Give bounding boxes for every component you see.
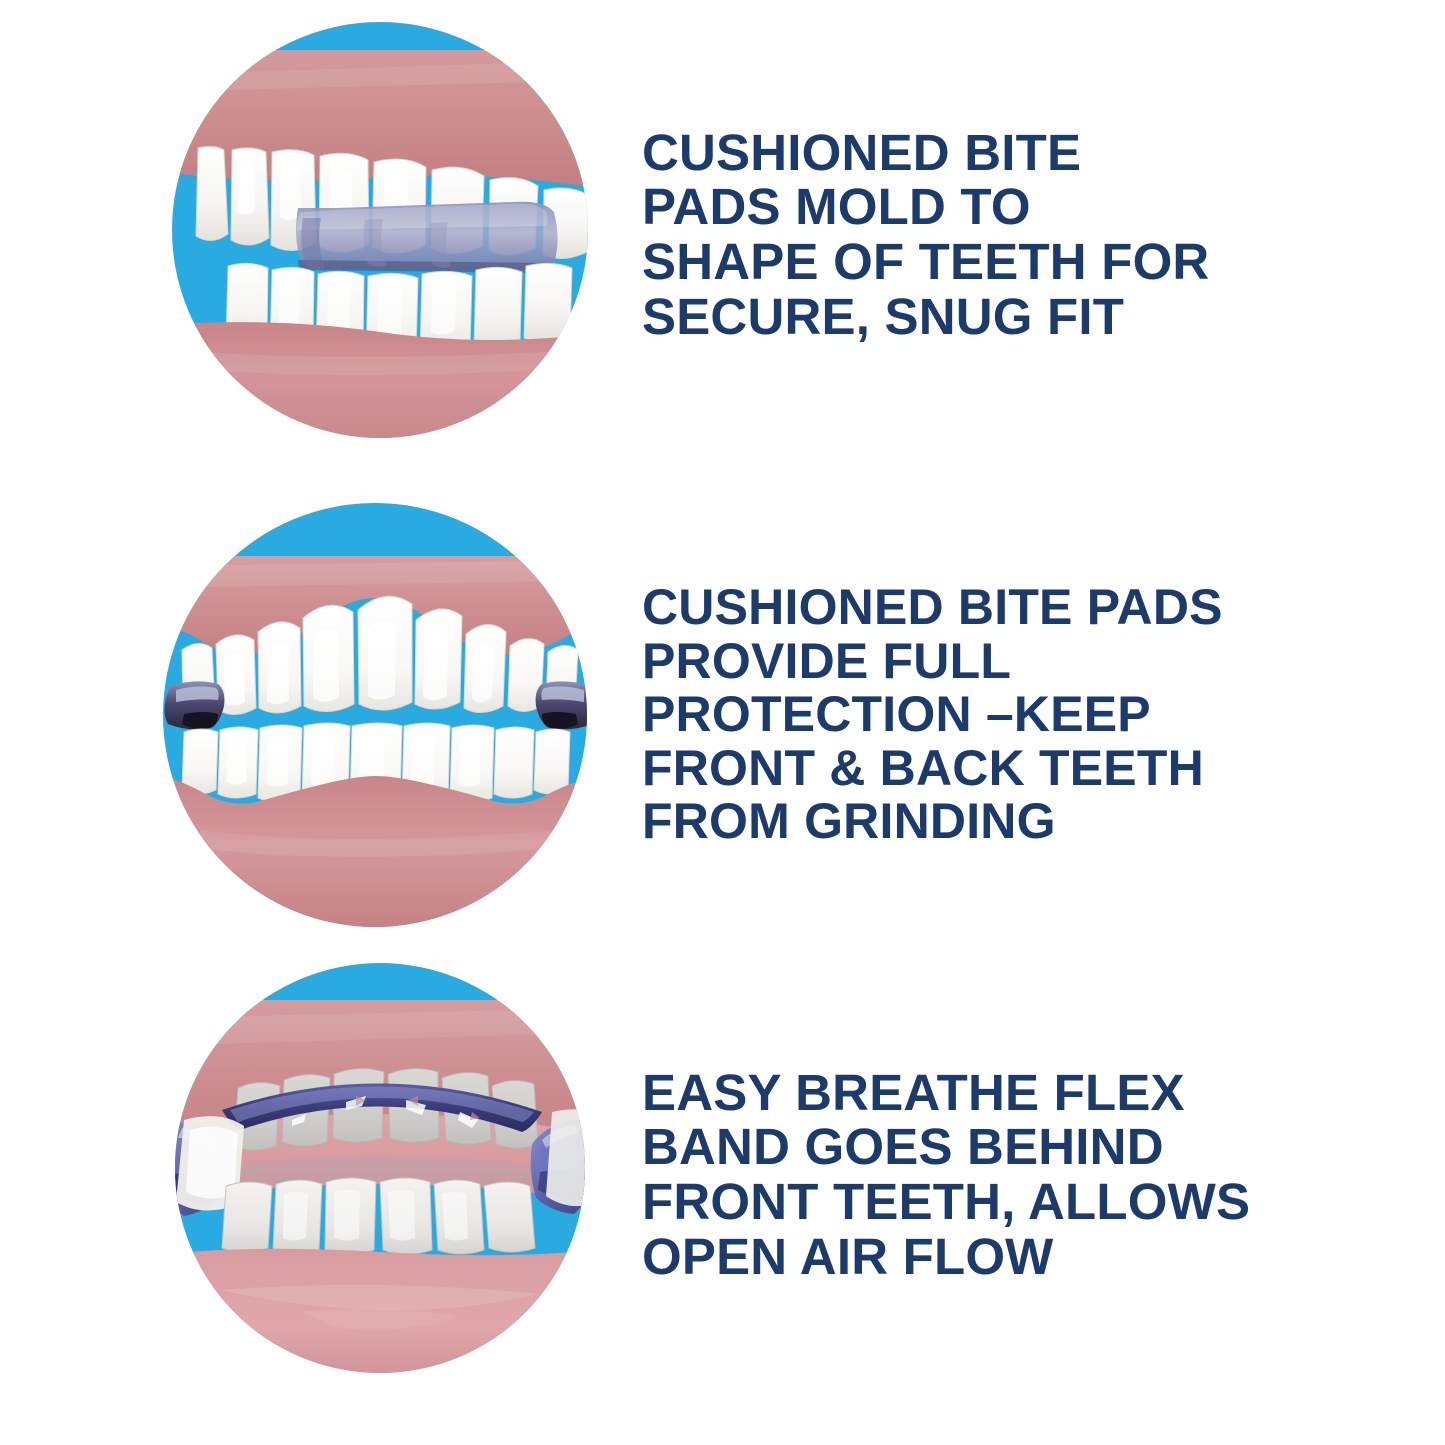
feature-headline-3: EASY BREATHE FLEX BAND GOES BEHIND FRONT… — [642, 1066, 1445, 1284]
dental-diagram-side-view — [160, 20, 600, 450]
product-feature-infographic: CUSHIONED BITE PADS MOLD TO SHAPE OF TEE… — [0, 0, 1445, 1445]
feature-image-3 — [160, 960, 600, 1390]
dental-diagram-front-view — [160, 500, 600, 930]
feature-row-1: CUSHIONED BITE PADS MOLD TO SHAPE OF TEE… — [0, 20, 1445, 450]
feature-image-2 — [160, 500, 600, 930]
feature-row-3: EASY BREATHE FLEX BAND GOES BEHIND FRONT… — [0, 960, 1445, 1390]
feature-row-2: CUSHIONED BITE PADS PROVIDE FULL PROTECT… — [0, 490, 1445, 940]
feature-headline-1: CUSHIONED BITE PADS MOLD TO SHAPE OF TEE… — [642, 126, 1445, 344]
feature-headline-2: CUSHIONED BITE PADS PROVIDE FULL PROTECT… — [642, 581, 1445, 849]
dental-diagram-inside-view — [160, 960, 600, 1390]
bite-pad-right — [536, 681, 596, 729]
feature-image-1 — [160, 20, 600, 450]
bite-pad-left — [164, 681, 224, 729]
